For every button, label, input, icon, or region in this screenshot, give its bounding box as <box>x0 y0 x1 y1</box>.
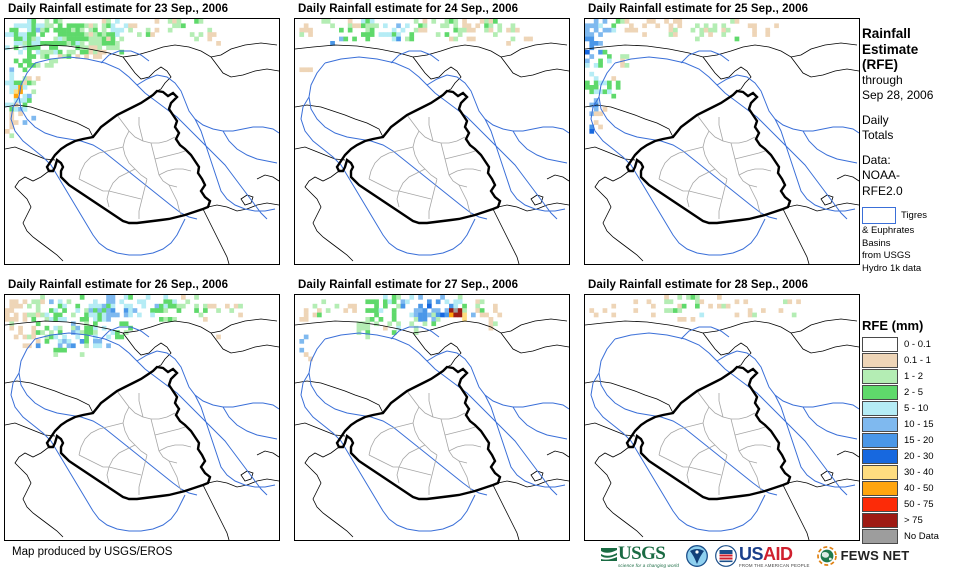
sidebar-through: through <box>862 73 967 89</box>
map-canvas <box>585 19 859 264</box>
legend-swatch <box>862 465 898 480</box>
map-frame[interactable] <box>584 294 860 541</box>
legend-swatch <box>862 497 898 512</box>
sidebar-data-source-1: NOAA- <box>862 168 967 184</box>
panel-title: Daily Rainfall estimate for 27 Sep., 200… <box>298 279 518 292</box>
usaid-wordmark: USAID <box>739 544 810 565</box>
usgs-tagline: science for a changing world <box>618 563 679 568</box>
legend-swatch <box>862 481 898 496</box>
basin-legend: Tigres <box>862 207 967 224</box>
basin-line-4: from USGS <box>862 250 967 262</box>
legend-item: 0.1 - 1 <box>862 353 967 368</box>
legend-swatch <box>862 529 898 544</box>
map-frame[interactable] <box>294 18 570 265</box>
legend-label: 5 - 10 <box>904 403 928 414</box>
legend-item: 5 - 10 <box>862 401 967 416</box>
legend-swatch <box>862 513 898 528</box>
map-panel-28-sep-2006: Daily Rainfall estimate for 28 Sep., 200… <box>584 279 808 292</box>
map-canvas <box>5 295 279 540</box>
legend-swatch <box>862 385 898 400</box>
sidebar-heading-line3: (RFE) <box>862 57 967 73</box>
map-canvas <box>585 295 859 540</box>
sidebar-heading-line1: Rainfall <box>862 26 967 42</box>
usgs-logo: USGS science for a changing world <box>601 543 679 568</box>
legend-swatch <box>862 417 898 432</box>
legend-label: 2 - 5 <box>904 387 923 398</box>
legend-swatch <box>862 433 898 448</box>
legend-item: 10 - 15 <box>862 417 967 432</box>
legend-title: RFE (mm) <box>862 318 967 333</box>
fewsnet-logo: FEWS NET <box>817 546 910 566</box>
legend-item: 20 - 30 <box>862 449 967 464</box>
basin-line-5: Hydro 1k data <box>862 263 967 275</box>
noaa-seal-icon <box>686 545 708 567</box>
rfe-legend: RFE (mm) 0 - 0.10.1 - 11 - 22 - 55 - 101… <box>862 318 967 545</box>
noaa-logo <box>686 545 708 567</box>
usgs-wordmark: USGS <box>618 543 679 565</box>
fewsnet-wordmark: FEWS NET <box>841 548 910 563</box>
map-panel-24-sep-2006: Daily Rainfall estimate for 24 Sep., 200… <box>294 3 518 16</box>
logo-strip: USGS science for a changing world USAID … <box>601 543 909 568</box>
sidebar-through-date: Sep 28, 2006 <box>862 88 967 104</box>
legend-label: 40 - 50 <box>904 483 934 494</box>
legend-swatch <box>862 401 898 416</box>
usgs-mark-icon <box>601 546 618 566</box>
usaid-logo: USAID FROM THE AMERICAN PEOPLE <box>715 544 810 568</box>
map-panel-25-sep-2006: Daily Rainfall estimate for 25 Sep., 200… <box>584 3 808 16</box>
usaid-seal-icon <box>715 545 737 567</box>
map-frame[interactable] <box>294 294 570 541</box>
map-frame[interactable] <box>584 18 860 265</box>
legend-label: 10 - 15 <box>904 419 934 430</box>
map-panel-27-sep-2006: Daily Rainfall estimate for 27 Sep., 200… <box>294 279 518 292</box>
legend-label: 20 - 30 <box>904 451 934 462</box>
legend-item: 2 - 5 <box>862 385 967 400</box>
map-frame[interactable] <box>4 18 280 265</box>
sidebar-totals: Totals <box>862 128 967 144</box>
sidebar-daily: Daily <box>862 113 967 129</box>
legend-item: 40 - 50 <box>862 481 967 496</box>
panel-title: Daily Rainfall estimate for 26 Sep., 200… <box>8 279 228 292</box>
panel-title: Daily Rainfall estimate for 23 Sep., 200… <box>8 3 228 16</box>
legend-swatch <box>862 353 898 368</box>
legend-label: > 75 <box>904 515 923 526</box>
usaid-tagline: FROM THE AMERICAN PEOPLE <box>739 563 810 568</box>
panel-title: Daily Rainfall estimate for 25 Sep., 200… <box>588 3 808 16</box>
legend-label: 15 - 20 <box>904 435 934 446</box>
basin-swatch <box>862 207 896 224</box>
legend-item: 50 - 75 <box>862 497 967 512</box>
legend-swatch <box>862 369 898 384</box>
sidebar-data-source-2: RFE2.0 <box>862 184 967 200</box>
map-canvas <box>295 19 569 264</box>
panel-title: Daily Rainfall estimate for 28 Sep., 200… <box>588 279 808 292</box>
map-credit: Map produced by USGS/EROS <box>12 546 172 558</box>
panel-title: Daily Rainfall estimate for 24 Sep., 200… <box>298 3 518 16</box>
legend-item: 15 - 20 <box>862 433 967 448</box>
legend-label: No Data <box>904 531 939 542</box>
sidebar-data-label: Data: <box>862 153 967 169</box>
legend-swatch <box>862 337 898 352</box>
legend-label: 0.1 - 1 <box>904 355 931 366</box>
legend-item: 1 - 2 <box>862 369 967 384</box>
legend-item: > 75 <box>862 513 967 528</box>
map-panel-23-sep-2006: Daily Rainfall estimate for 23 Sep., 200… <box>4 3 228 16</box>
map-frame[interactable] <box>4 294 280 541</box>
basin-label: Tigres <box>901 207 927 221</box>
legend-item: 30 - 40 <box>862 465 967 480</box>
fewsnet-globe-icon <box>817 546 837 566</box>
legend-swatch <box>862 449 898 464</box>
basin-line-2: & Euphrates <box>862 225 967 237</box>
legend-item: No Data <box>862 529 967 544</box>
sidebar-heading-line2: Estimate <box>862 42 967 58</box>
legend-label: 0 - 0.1 <box>904 339 931 350</box>
legend-label: 1 - 2 <box>904 371 923 382</box>
map-canvas <box>5 19 279 264</box>
map-panel-26-sep-2006: Daily Rainfall estimate for 26 Sep., 200… <box>4 279 228 292</box>
legend-label: 50 - 75 <box>904 499 934 510</box>
basin-line-3: Basins <box>862 238 967 250</box>
map-canvas <box>295 295 569 540</box>
legend-item: 0 - 0.1 <box>862 337 967 352</box>
legend-label: 30 - 40 <box>904 467 934 478</box>
